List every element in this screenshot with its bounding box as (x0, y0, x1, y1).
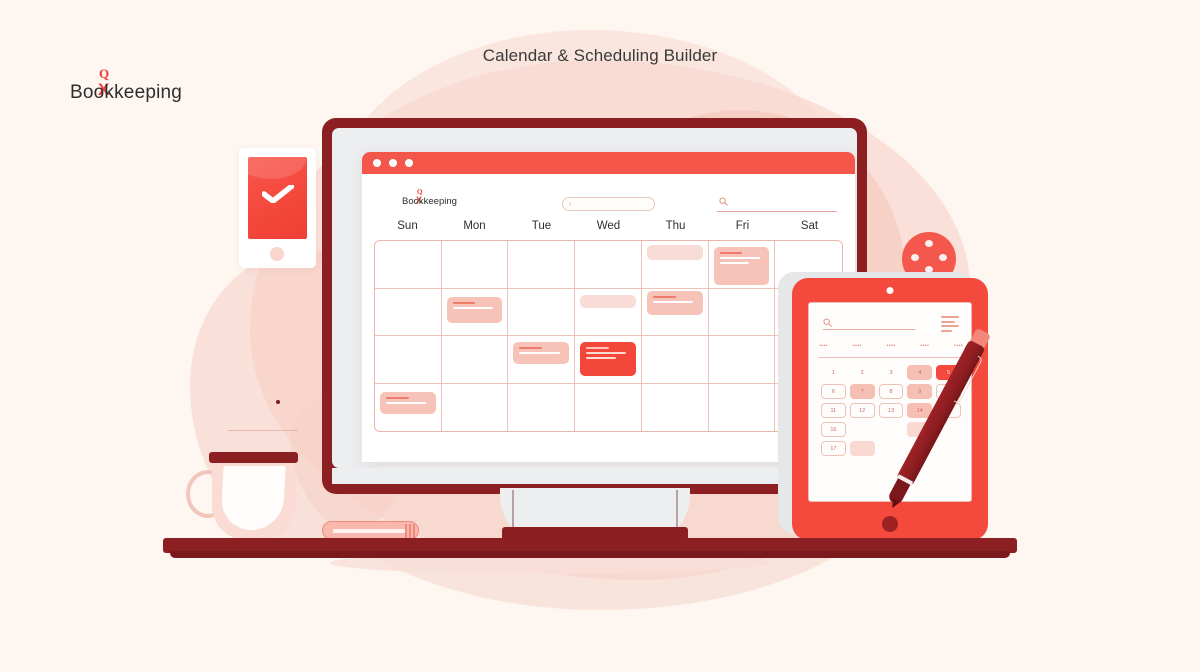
calendar-event[interactable] (647, 245, 703, 260)
event-text-line (586, 357, 616, 359)
tablet-day-cell[interactable]: 7 (850, 384, 875, 399)
window-minimize-icon[interactable] (389, 159, 397, 167)
brand-wordmark: Bookkeeping (70, 82, 182, 104)
illustration-canvas: Calendar & Scheduling Builder Q X Bookke… (0, 0, 1200, 672)
tablet-weekday-label: •••• (920, 343, 929, 349)
window-maximize-icon[interactable] (405, 159, 413, 167)
calendar-cell[interactable] (642, 384, 709, 432)
calendar-event[interactable] (647, 291, 703, 315)
calendar-event[interactable] (447, 297, 503, 323)
pen-tray-rib (413, 524, 415, 538)
calendar-cell[interactable] (575, 289, 642, 337)
chevron-left-icon: ‹ (569, 201, 571, 209)
coffee-mug (186, 452, 311, 544)
wall-dot-decor (276, 400, 280, 404)
calendar-event[interactable] (513, 342, 569, 364)
event-text-line (586, 347, 609, 349)
phone-screen-shine (248, 157, 306, 179)
calendar-cell[interactable] (575, 336, 642, 384)
calendar-cell[interactable] (508, 241, 575, 289)
weekday-fri: Fri (709, 220, 776, 232)
tablet-day-cell[interactable]: 8 (879, 384, 904, 399)
tablet-day-cell[interactable]: 4 (907, 365, 932, 380)
month-selector[interactable]: ‹ (562, 197, 655, 211)
calendar-grid[interactable] (374, 240, 843, 432)
tablet-search-input[interactable] (823, 317, 915, 330)
search-icon (719, 197, 728, 206)
event-text-line (586, 352, 626, 354)
calendar-cell[interactable] (508, 336, 575, 384)
calendar-cell[interactable] (575, 384, 642, 432)
weekday-tue: Tue (508, 220, 575, 232)
calendar-event[interactable] (580, 295, 636, 308)
calendar-cell[interactable] (508, 384, 575, 432)
tablet-day-cell[interactable] (879, 441, 904, 456)
weekday-wed: Wed (575, 220, 642, 232)
cookie-chip (939, 254, 947, 261)
calendar-cell[interactable] (709, 289, 776, 337)
app-logo[interactable]: Q X Bookkeeping (402, 188, 512, 212)
calendar-cell[interactable] (375, 384, 442, 432)
tablet-weekday-label: •••• (819, 343, 828, 349)
menu-bar (941, 330, 952, 332)
wall-line-decor (228, 430, 298, 431)
checkmark-icon (262, 185, 294, 203)
menu-bar (941, 316, 959, 318)
calendar-weekday-header: Sun Mon Tue Wed Thu Fri Sat (374, 220, 843, 232)
calendar-cell[interactable] (442, 384, 509, 432)
pen-tray-rib (409, 524, 411, 538)
tablet-day-cell[interactable]: 2 (850, 365, 875, 380)
event-text-line (653, 301, 693, 303)
event-text-line (386, 397, 409, 399)
tablet-day-cell[interactable] (936, 441, 961, 456)
window-close-icon[interactable] (373, 159, 381, 167)
tablet-day-cell[interactable]: 17 (821, 441, 846, 456)
event-text-line (453, 307, 493, 309)
event-text-line (453, 302, 476, 304)
browser-titlebar (362, 152, 855, 174)
calendar-cell[interactable] (508, 289, 575, 337)
event-text-line (720, 262, 750, 264)
calendar-cell[interactable] (375, 241, 442, 289)
event-text-line (519, 352, 559, 354)
calendar-event[interactable] (380, 392, 436, 414)
event-text-line (720, 257, 760, 259)
tablet-weekday-header: •••••••••••••••••••• (819, 343, 963, 349)
tablet-weekday-label: •••• (887, 343, 896, 349)
tablet-camera-icon (887, 287, 894, 294)
phone-screen (248, 157, 307, 239)
hamburger-menu-icon[interactable] (941, 316, 959, 334)
calendar-cell[interactable] (442, 241, 509, 289)
calendar-cell[interactable] (575, 241, 642, 289)
calendar-event[interactable] (580, 342, 636, 376)
phone-device (239, 148, 316, 268)
tablet-day-cell[interactable]: 3 (879, 365, 904, 380)
weekday-sat: Sat (776, 220, 843, 232)
tablet-divider (819, 357, 963, 358)
search-input[interactable] (717, 196, 837, 212)
menu-bar (941, 325, 959, 327)
event-text-line (386, 402, 426, 404)
tablet-day-cell[interactable] (879, 422, 904, 437)
cookie-chip (925, 240, 933, 247)
tablet-day-cell[interactable] (850, 422, 875, 437)
phone-home-button[interactable] (270, 247, 284, 261)
tablet-day-cell[interactable]: 6 (821, 384, 846, 399)
cookie-chip (911, 254, 919, 261)
event-text-line (519, 347, 542, 349)
calendar-cell[interactable] (642, 241, 709, 289)
mug-body (212, 460, 295, 540)
tablet-day-cell[interactable]: 13 (879, 403, 904, 418)
tablet-home-button[interactable] (882, 516, 898, 532)
mug-liquid (220, 466, 285, 530)
menu-bar (941, 321, 955, 323)
tablet-day-cell[interactable]: 11 (821, 403, 846, 418)
desk-edge (170, 551, 1010, 558)
tablet-day-cell[interactable]: 9 (907, 384, 932, 399)
calendar-event[interactable] (714, 247, 770, 285)
calendar-cell[interactable] (442, 336, 509, 384)
brand-logo: Q X Bookkeeping (70, 68, 230, 110)
tablet-day-cell[interactable]: 16 (821, 422, 846, 437)
event-text-line (720, 252, 743, 254)
tablet-day-cell[interactable]: 1 (821, 365, 846, 380)
tablet-weekday-label: •••• (853, 343, 862, 349)
calendar-cell[interactable] (709, 384, 776, 432)
calendar-cell[interactable] (375, 336, 442, 384)
mug-rim (209, 452, 298, 463)
search-icon (823, 318, 832, 327)
weekday-mon: Mon (441, 220, 508, 232)
app-logo-wordmark: Bookkeeping (402, 196, 457, 207)
calendar-cell[interactable] (642, 289, 709, 337)
calendar-cell[interactable] (709, 241, 776, 289)
page-title: Calendar & Scheduling Builder (0, 46, 1200, 66)
calendar-cell[interactable] (375, 289, 442, 337)
calendar-cell[interactable] (642, 336, 709, 384)
calendar-cell[interactable] (442, 289, 509, 337)
weekday-sun: Sun (374, 220, 441, 232)
tablet-day-cell[interactable] (850, 441, 875, 456)
pen-tray-rib (405, 524, 407, 538)
calendar-cell[interactable] (709, 336, 776, 384)
event-text-line (653, 296, 676, 298)
weekday-thu: Thu (642, 220, 709, 232)
pen-tray-shaft (333, 529, 405, 533)
tablet-day-cell[interactable]: 12 (850, 403, 875, 418)
